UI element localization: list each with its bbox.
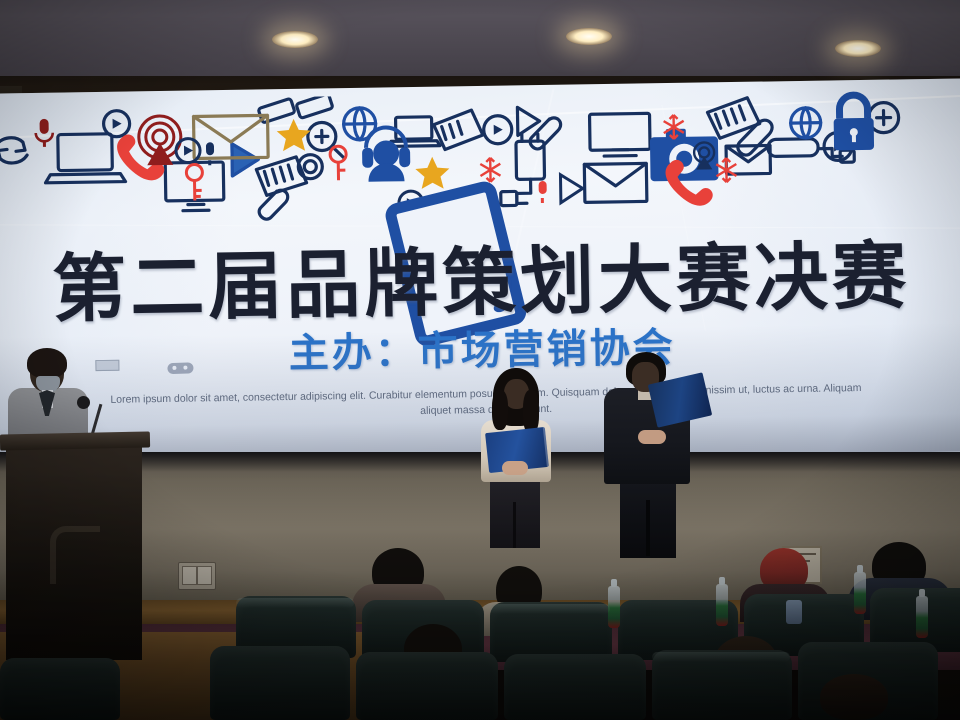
speaker-podium: [6, 442, 142, 660]
host-woman-hair-strand: [492, 390, 508, 430]
phone-screen: [786, 600, 802, 624]
water-bottle: [916, 596, 928, 638]
ceiling-downlight: [272, 31, 318, 48]
host-woman-hands: [502, 461, 528, 475]
host-man-hands: [638, 430, 666, 444]
seat-highlight: [652, 652, 790, 662]
attendee-head: [820, 674, 888, 720]
host-woman-trousers: [490, 478, 540, 548]
auditorium-seat: [0, 658, 120, 720]
podium-top-surface: [0, 431, 150, 450]
ceiling-downlight: [566, 28, 612, 45]
seat-highlight: [490, 604, 610, 614]
seat-highlight: [236, 598, 354, 608]
auditorium-seat: [210, 646, 350, 720]
auditorium-seat: [356, 652, 498, 720]
host-woman: [478, 368, 554, 544]
host-man: [604, 352, 690, 552]
microphone-icon: [77, 396, 90, 409]
podium-emblem: [50, 526, 100, 584]
water-bottle: [716, 584, 728, 626]
ceiling-downlight: [835, 40, 881, 57]
water-bottle: [854, 572, 866, 614]
banner-title-main: 第二届品牌策划大赛决赛: [0, 238, 960, 328]
host-man-trousers: [620, 478, 676, 558]
photo-scene: 第二届品牌策划大赛决赛 主办：市场营销协会 Lorem ipsum dolor …: [0, 0, 960, 720]
auditorium-seat: [504, 654, 646, 720]
wall-power-socket: [178, 562, 216, 590]
speaker-hair: [27, 348, 67, 378]
